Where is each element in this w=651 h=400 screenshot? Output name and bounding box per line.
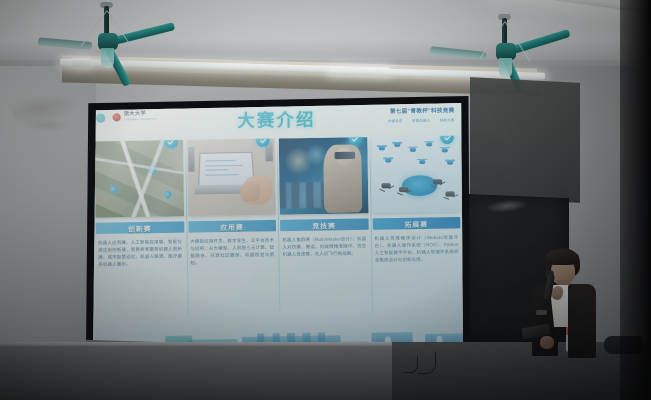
map-pin-icon [162, 189, 172, 199]
drone-icon [440, 146, 450, 153]
slide-column-competition: 竞技赛 机器人集群赛（RoboMaster设计）、机器人对抗赛、搬运、机械臂精准… [279, 137, 370, 314]
slide-subtitle: 第七届"青教杯"科技竞赛 [388, 106, 455, 115]
cable [418, 352, 436, 374]
column-body-extension: 机器人仿真程序设计（Webots仿真平台）、机器人操作系统（ROS）、Pytho… [372, 233, 461, 264]
presenter-jacket-right [568, 284, 596, 358]
drone-icon [424, 140, 434, 147]
thumbnail-vr-arena [279, 137, 368, 215]
column-body-competition: 机器人集群赛（RoboMaster设计）、机器人对抗赛、搬运、机械臂精准操作、仿… [280, 235, 368, 258]
vr-arena-image [279, 137, 368, 215]
right-dark-edge [620, 0, 651, 400]
classroom-photo: 浙大大学 ZHEJIANG UNIVERSITY 大赛介绍 第七届"青教杯"科技… [0, 0, 651, 400]
presenter-hand-second [540, 336, 554, 349]
column-body-innovation: 机器人应用展、人工智能应用展、智能交通应用创新展、智慧养老服务机器人创新展、城市… [96, 238, 185, 269]
presenter-wristband [536, 310, 547, 315]
presenter [524, 248, 602, 366]
category-label-competition: 竞技赛 [280, 218, 368, 231]
slide-subtitle-tags: 中国北京 智能机器人 创新大赛 [388, 117, 455, 123]
laptop-image [187, 139, 276, 217]
slide-column-extension: 拓展赛 机器人仿真程序设计（Webots仿真平台）、机器人操作系统（ROS）、P… [371, 136, 462, 313]
drone-icon [445, 159, 455, 166]
thumbnail-robot-swarm [371, 136, 460, 214]
wall-panel-upper [470, 77, 580, 203]
fan-light [499, 58, 512, 78]
drone-icon [392, 141, 402, 148]
category-label-application: 应用赛 [188, 220, 276, 233]
map-pin-icon [109, 184, 119, 194]
drone-icon [408, 145, 418, 152]
desk-object [188, 147, 195, 171]
thumbnail-aerial-city [94, 140, 183, 218]
slide-columns: 创新赛 机器人应用展、人工智能应用展、智能交通应用创新展、智慧养老服务机器人创新… [94, 136, 461, 318]
category-label-extension: 拓展赛 [372, 217, 460, 230]
category-label-innovation: 创新赛 [96, 221, 184, 234]
thumbnail-laptop-coding [187, 139, 276, 217]
projection-screen[interactable]: 浙大大学 ZHEJIANG UNIVERSITY 大赛介绍 第七届"青教杯"科技… [93, 103, 463, 346]
column-body-application: 大模型应用开发、数字孪生、云平台技术与应用、AI大模型、人机智三元计算、智能融合… [188, 236, 277, 267]
hand-second [240, 181, 260, 201]
map-pin-icon [148, 165, 158, 175]
presentation-slide: 浙大大学 ZHEJIANG UNIVERSITY 大赛介绍 第七届"青教杯"科技… [93, 103, 463, 346]
drone-icon [376, 144, 386, 151]
subtitle-tag: 智能机器人 [412, 117, 431, 122]
vr-goggles [334, 152, 355, 159]
drone-icon [384, 156, 394, 163]
cable [404, 356, 418, 373]
robot-icon [379, 181, 395, 191]
subtitle-tag: 中国北京 [388, 117, 403, 122]
slide-subtitle-block: 第七届"青教杯"科技竞赛 中国北京 智能机器人 创新大赛 [388, 106, 455, 123]
fluorescent-tube-stub [72, 58, 90, 68]
robot-swarm-image [371, 136, 460, 214]
slide-column-application: 应用赛 大模型应用开发、数字孪生、云平台技术与应用、AI大模型、人机智三元计算、… [187, 139, 278, 316]
robot-icon [442, 189, 458, 199]
robot-icon [396, 185, 412, 195]
slide-column-innovation: 创新赛 机器人应用展、人工智能应用展、智能交通应用创新展、智慧养老服务机器人创新… [94, 140, 185, 317]
presenter-hair-front [545, 250, 579, 265]
robot-icon [430, 177, 446, 187]
wall-stain-2 [22, 118, 70, 132]
drone-icon [417, 157, 427, 164]
subtitle-tag: 创新大赛 [440, 117, 455, 122]
fan-light [101, 48, 114, 68]
